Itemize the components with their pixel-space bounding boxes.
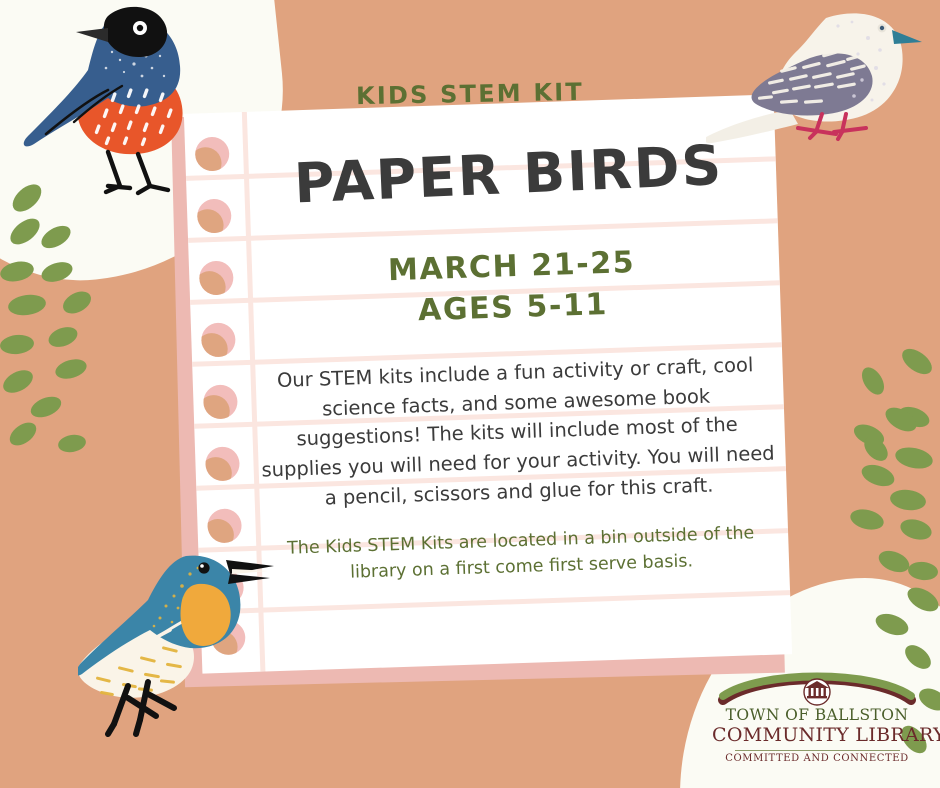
logo-library-name: COMMUNITY LIBRARY bbox=[712, 725, 922, 747]
leaf-shape bbox=[876, 547, 913, 577]
leaf-shape bbox=[860, 433, 892, 466]
leaf-shape bbox=[8, 179, 47, 217]
punch-hole bbox=[201, 322, 236, 357]
leaf-shape bbox=[7, 292, 47, 317]
leaf-shape bbox=[0, 366, 37, 398]
leaf-shape bbox=[904, 583, 940, 616]
logo-town-name: TOWN OF BALLSTON bbox=[712, 707, 922, 725]
leaf-shape bbox=[859, 461, 897, 490]
logo-tagline: COMMITTED AND CONNECTED bbox=[712, 753, 922, 764]
leaf-shape bbox=[6, 214, 44, 250]
punch-hole bbox=[195, 136, 230, 171]
punch-hole bbox=[197, 198, 232, 233]
leaf-shape bbox=[898, 344, 937, 379]
punch-hole bbox=[207, 508, 242, 543]
leaf-shape bbox=[28, 393, 64, 422]
leaf-shape bbox=[39, 258, 75, 285]
leaf-shape bbox=[851, 420, 888, 449]
punch-hole bbox=[211, 620, 246, 655]
note-card: PAPER BIRDS MARCH 21-25 AGES 5-11 Our ST… bbox=[184, 94, 792, 673]
poster-title: PAPER BIRDS bbox=[245, 136, 772, 214]
leaf-shape bbox=[6, 418, 41, 450]
leaf-shape bbox=[873, 610, 911, 639]
leaf-shape bbox=[896, 403, 932, 431]
leaf-shape bbox=[907, 560, 939, 581]
punch-hole bbox=[203, 384, 238, 419]
pickup-note-paragraph: The Kids STEM Kits are located in a bin … bbox=[258, 519, 784, 589]
leaf-shape bbox=[53, 356, 89, 382]
punch-hole bbox=[205, 446, 240, 481]
leaf-shape bbox=[57, 433, 88, 455]
description-paragraph: Our STEM kits include a fun activity or … bbox=[252, 349, 782, 514]
card-content: PAPER BIRDS MARCH 21-25 AGES 5-11 Our ST… bbox=[244, 95, 787, 672]
library-logo: TOWN OF BALLSTON COMMUNITY LIBRARY COMMI… bbox=[712, 666, 922, 764]
leaf-shape bbox=[898, 516, 934, 543]
punch-hole bbox=[199, 260, 234, 295]
leaf-shape bbox=[857, 364, 888, 399]
punch-hole bbox=[209, 570, 244, 605]
leaf-shape bbox=[848, 506, 886, 533]
leaf-shape bbox=[882, 403, 921, 436]
logo-divider bbox=[735, 750, 900, 752]
leaf-shape bbox=[46, 323, 80, 350]
leaf-shape bbox=[59, 287, 94, 318]
leaf-shape bbox=[889, 488, 927, 513]
poster-canvas: KIDS STEM KIT PAPER BIRDS MARCH 21-25 AG… bbox=[0, 0, 940, 788]
leaf-shape bbox=[0, 259, 36, 285]
leaf-shape bbox=[893, 444, 934, 471]
leaf-shape bbox=[38, 221, 75, 253]
logo-arch-and-building-icon bbox=[717, 666, 917, 706]
leaf-shape bbox=[0, 333, 35, 355]
